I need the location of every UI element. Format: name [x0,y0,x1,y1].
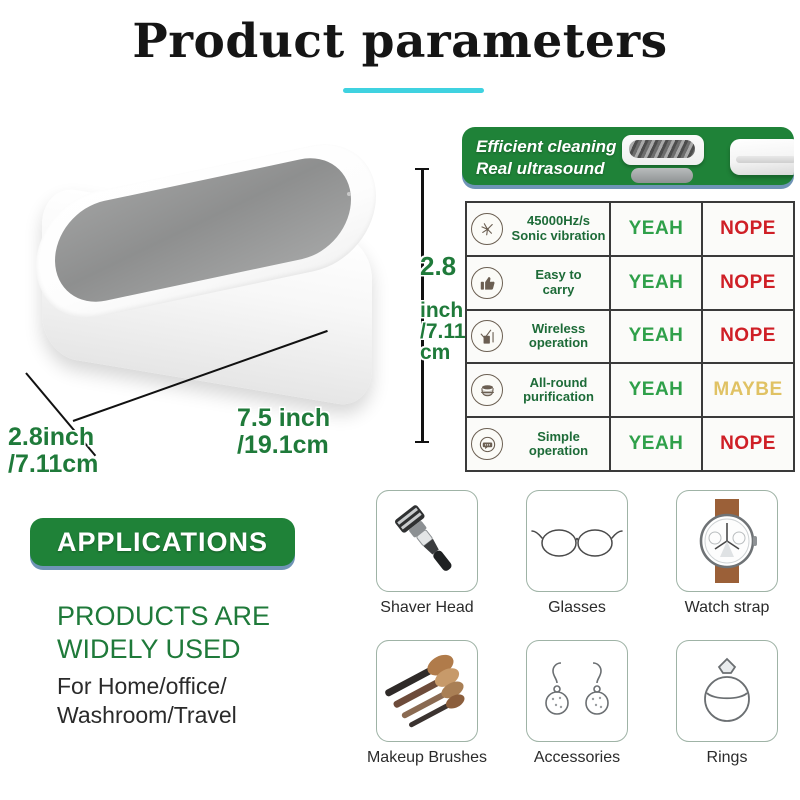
comparison-feature-label: Easy to carry [508,268,609,297]
comparison-theirs-cell: MAYBE [703,364,793,416]
applications-badge-label: APPLICATIONS [57,527,268,558]
comparison-feature-cell: Wireless operation [467,311,611,363]
application-item[interactable]: Watch strap [656,490,798,630]
simple-operation-icon [471,428,503,460]
comparison-ours-cell: YEAH [611,203,703,255]
open-cleaner-photo [622,135,704,165]
comparison-ours-cell: YEAH [611,311,703,363]
glasses-icon [526,490,628,592]
application-item[interactable]: Rings [656,640,798,780]
application-item[interactable]: Glasses [506,490,648,630]
application-caption: Accessories [506,749,648,767]
application-item[interactable]: Makeup Brushes [356,640,498,780]
shaver-head-icon [376,490,478,592]
application-caption: Glasses [506,599,648,617]
comparison-feature-label: 45000Hz/s Sonic vibration [508,214,609,243]
comparison-ours-cell: YEAH [611,257,703,309]
applications-subtext: For Home/office/ Washroom/Travel [57,672,357,731]
dimension-width-label: 7.5 inch /19.1cm [237,405,330,459]
closed-cleaner-photo [730,139,794,175]
comparison-row: All-round purificationYEAHMAYBE [467,364,793,418]
comparison-theirs-cell: NOPE [703,311,793,363]
sonic-vibration-icon [471,213,503,245]
title-underline [343,88,484,93]
comparison-row: Wireless operationYEAHNOPE [467,311,793,365]
comparison-header-line1: Efficient cleaning [476,136,616,158]
product-hero-image [12,160,412,450]
page-title: Product parameters [0,14,800,69]
comparison-feature-label: Wireless operation [508,322,609,351]
comparison-feature-cell: All-round purification [467,364,611,416]
application-caption: Shaver Head [356,599,498,617]
height-measure-cap-top [415,168,429,170]
earrings-icon [526,640,628,742]
comparison-feature-cell: Simple operation [467,418,611,470]
comparison-feature-label: Simple operation [508,430,609,459]
comparison-row: Simple operationYEAHNOPE [467,418,793,470]
comparison-feature-cell: Easy to carry [467,257,611,309]
application-caption: Makeup Brushes [356,749,498,767]
product-parameters-infographic: Product parameters 7.5 inch /19.1cm 2.8i… [0,0,800,800]
comparison-header-line2: Real ultrasound [476,158,616,180]
all-round-purification-icon [471,374,503,406]
comparison-ours-cell: YEAH [611,364,703,416]
applications-grid: Shaver HeadGlassesWatch strapMakeup Brus… [356,490,800,790]
makeup-brushes-icon [376,640,478,742]
applications-headline: PRODUCTS ARE WIDELY USED [57,600,347,666]
comparison-theirs-cell: NOPE [703,257,793,309]
cleaner-lid-photo [631,168,693,183]
dimension-height-unit: inch /7.11 cm [420,299,466,364]
comparison-ours-cell: YEAH [611,418,703,470]
dimension-depth-label: 2.8inch /7.11cm [8,424,98,478]
ring-icon [676,640,778,742]
comparison-header-banner: Efficient cleaning Real ultrasound [462,127,794,185]
height-measure-cap-bottom [415,441,429,443]
comparison-table: 45000Hz/s Sonic vibrationYEAHNOPEEasy to… [465,201,795,472]
watch-strap-icon [676,490,778,592]
application-caption: Watch strap [656,599,798,617]
comparison-header-text: Efficient cleaning Real ultrasound [476,136,616,180]
application-item[interactable]: Shaver Head [356,490,498,630]
comparison-feature-cell: 45000Hz/s Sonic vibration [467,203,611,255]
comparison-row: 45000Hz/s Sonic vibrationYEAHNOPE [467,203,793,257]
comparison-theirs-cell: NOPE [703,418,793,470]
application-caption: Rings [656,749,798,767]
comparison-row: Easy to carryYEAHNOPE [467,257,793,311]
thumbs-up-icon [471,267,503,299]
applications-badge: APPLICATIONS [30,518,295,566]
application-item[interactable]: Accessories [506,640,648,780]
comparison-theirs-cell: NOPE [703,203,793,255]
product-indicator-dot [347,192,351,196]
comparison-feature-label: All-round purification [508,376,609,405]
wireless-check-icon [471,320,503,352]
